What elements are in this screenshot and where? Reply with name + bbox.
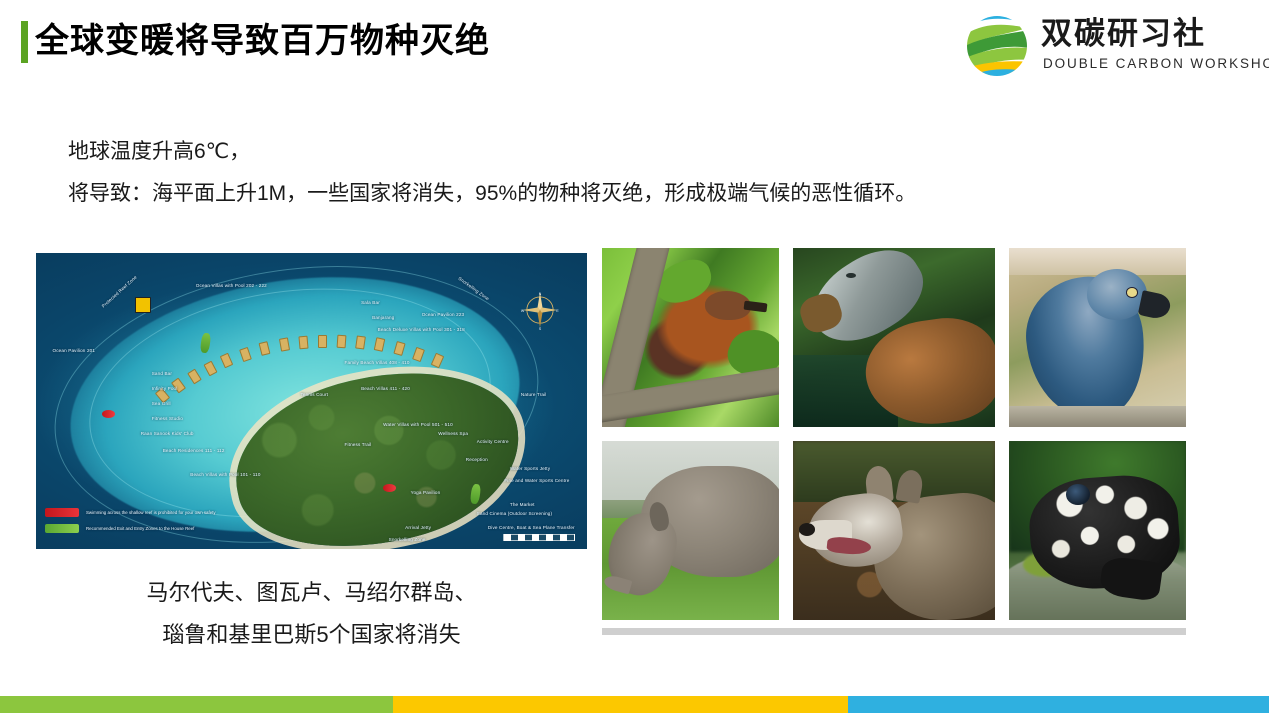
map-label: Ocean Pavilion 223 [422, 312, 465, 318]
legend-chip-prohibited [45, 508, 79, 517]
map-label: Tennis Court [300, 392, 328, 398]
map-label: Family Beach Villas 408 - 410 [345, 360, 410, 366]
map-label: Beach Villas with Pool 101 - 110 [190, 472, 260, 478]
endangered-species-photo-grid [602, 248, 1186, 620]
map-label: Raan Sanook Kids' Club [141, 431, 194, 437]
body-line-1: 地球温度升高6℃， [68, 131, 1228, 173]
double-carbon-globe-logo-icon [965, 14, 1029, 78]
map-label: Ocean Villas with Pool 202 - 222 [196, 283, 267, 289]
body-paragraph: 地球温度升高6℃， 将导致：海平面上升1M，一些国家将消失，95%的物种将灭绝，… [68, 131, 1228, 215]
legend-text-prohibited: Swimming across the shallow reef is proh… [86, 510, 216, 515]
map-label: Protected Reef Zone [100, 274, 138, 309]
map-label: Reception [466, 457, 488, 463]
footer-bar-segment-green [0, 696, 393, 713]
island-map-figure: Protected Reef Zone Ocean Villas with Po… [36, 253, 587, 549]
page-title: 全球变暖将导致百万物种灭绝 [35, 17, 490, 65]
map-label: Sand Cinema (Outdoor Screening) [477, 511, 552, 517]
blue-macaw-photo [1009, 248, 1186, 427]
map-label: Fine and Water Sports Centre [504, 478, 569, 484]
map-label: Banjarang [372, 315, 394, 321]
map-caption-line-1: 马尔代夫、图瓦卢、马绍尔群岛、 [36, 572, 587, 614]
footer-bar-segment-blue [848, 696, 1269, 713]
slide-root: 全球变暖将导致百万物种灭绝 双碳研习社 DOUBL [0, 0, 1269, 713]
svg-text:N: N [539, 292, 542, 296]
brand-logo: 双碳研习社 DOUBLE CARBON WORKSHOP [965, 12, 1243, 82]
map-caption-line-2: 瑙鲁和基里巴斯5个国家将消失 [36, 614, 587, 656]
svg-text:E: E [556, 309, 559, 313]
overwater-villa-row [152, 303, 472, 433]
platypus-illustration-photo [793, 248, 995, 427]
map-label: Nature Trail [521, 392, 547, 398]
legend-chip-entry [45, 524, 79, 533]
map-label: Sea Grill [152, 401, 171, 407]
map-label: Sala Bar [361, 300, 380, 306]
map-label: Snorkelling Zone [389, 537, 426, 543]
map-label: Beach Villas 411 - 420 [361, 386, 410, 392]
no-swimming-marker-icon [102, 410, 115, 418]
title-accent-bar [21, 21, 28, 63]
body-line-2: 将导致：海平面上升1M，一些国家将消失，95%的物种将灭绝，形成极端气候的恶性循… [68, 173, 1228, 215]
compass-rose-icon: N E S W [519, 289, 561, 331]
wolf-photo [793, 441, 995, 620]
map-label: Ocean Pavilion 201 [53, 348, 96, 354]
footer-color-bar [0, 696, 1269, 713]
map-label: Sand Bar [152, 371, 172, 377]
map-label: The Market [510, 502, 535, 508]
map-label: Activity Centre [477, 439, 509, 445]
rhinoceros-photo [602, 441, 779, 620]
island-map-image: Protected Reef Zone Ocean Villas with Po… [36, 253, 587, 549]
legend-text-entry: Recommended Exit and Entry Zones to the … [86, 526, 194, 531]
map-label: Fitness Studio [152, 416, 183, 422]
map-label: Water Sports Jetty [510, 466, 550, 472]
map-label: Beach Deluxe Villas with Pool 301 - 318 [378, 327, 465, 333]
map-caption: 马尔代夫、图瓦卢、马绍尔群岛、 瑙鲁和基里巴斯5个国家将消失 [36, 572, 587, 656]
map-label: Arrival Jetty [405, 525, 431, 531]
no-swimming-marker-icon-2 [383, 484, 396, 492]
map-label: Fitness Trail [345, 442, 372, 448]
photo-grid-divider [602, 628, 1186, 635]
footer-bar-segment-yellow [393, 696, 847, 713]
map-label: Beach Residences 111 - 112 [163, 448, 225, 454]
map-label: Water Villas with Pool 501 - 510 [383, 422, 453, 428]
logo-chinese-name: 双碳研习社 [1041, 16, 1206, 52]
svg-text:W: W [521, 309, 525, 313]
map-scale-bar [503, 534, 575, 541]
map-hazard-sign-icon [135, 297, 151, 313]
map-label: Wellness Spa [438, 431, 468, 437]
map-label: Infinity Pool [152, 386, 178, 392]
map-label: Yoga Pavilion [411, 490, 441, 496]
map-label: Dive Centre, Boat & Sea Plane Transfer [488, 525, 575, 531]
spotted-frog-photo [1009, 441, 1186, 620]
bird-on-branch-photo [602, 248, 779, 427]
logo-english-name: DOUBLE CARBON WORKSHOP [1043, 56, 1269, 71]
svg-text:S: S [539, 327, 542, 331]
